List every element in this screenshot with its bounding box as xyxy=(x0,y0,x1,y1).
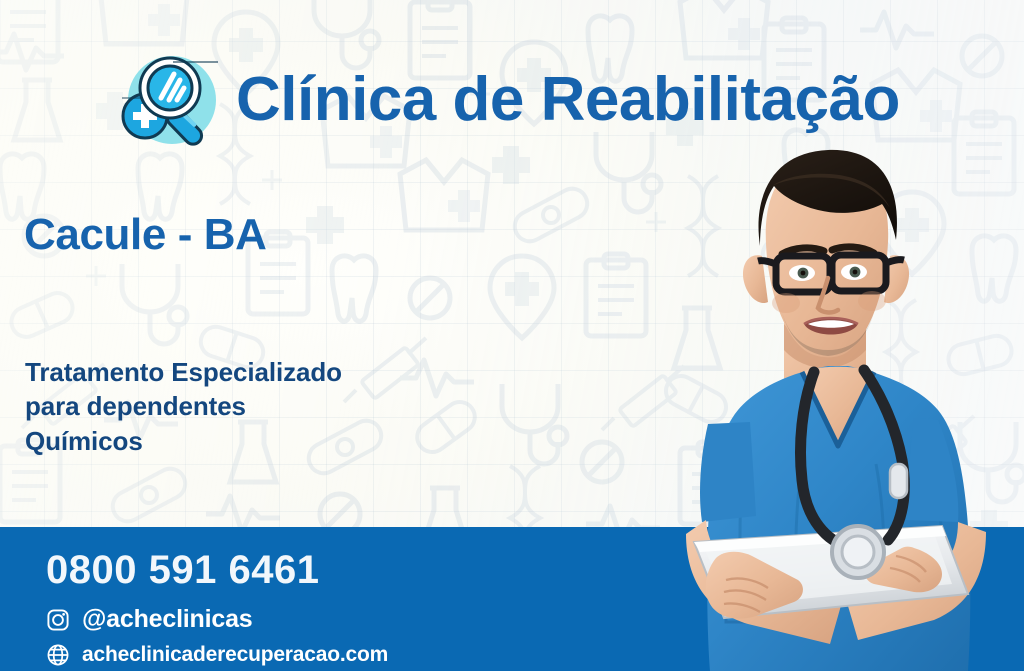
tagline-line-1: Tratamento Especializado xyxy=(25,355,342,389)
page-title: Clínica de Reabilitação xyxy=(236,69,900,131)
instagram-icon xyxy=(46,608,70,632)
website-contact[interactable]: acheclinicaderecuperacao.com xyxy=(46,643,388,667)
tagline-line-3: Químicos xyxy=(25,424,342,458)
tagline-line-2: para dependentes xyxy=(25,389,342,423)
globe-icon xyxy=(46,643,70,667)
nurse-photo xyxy=(652,128,1024,671)
location-label: Cacule - BA xyxy=(24,211,267,259)
instagram-contact[interactable]: @acheclinicas xyxy=(46,605,252,634)
clinic-banner: Clínica de Reabilitação Cacule - BA Trat… xyxy=(0,0,1024,671)
tagline: Tratamento Especializado para dependente… xyxy=(25,355,342,458)
magnifying-glass-medical-plus-icon xyxy=(118,50,222,150)
instagram-handle: @acheclinicas xyxy=(82,605,252,634)
website-url: acheclinicaderecuperacao.com xyxy=(82,643,388,667)
phone-number[interactable]: 0800 591 6461 xyxy=(46,550,319,590)
